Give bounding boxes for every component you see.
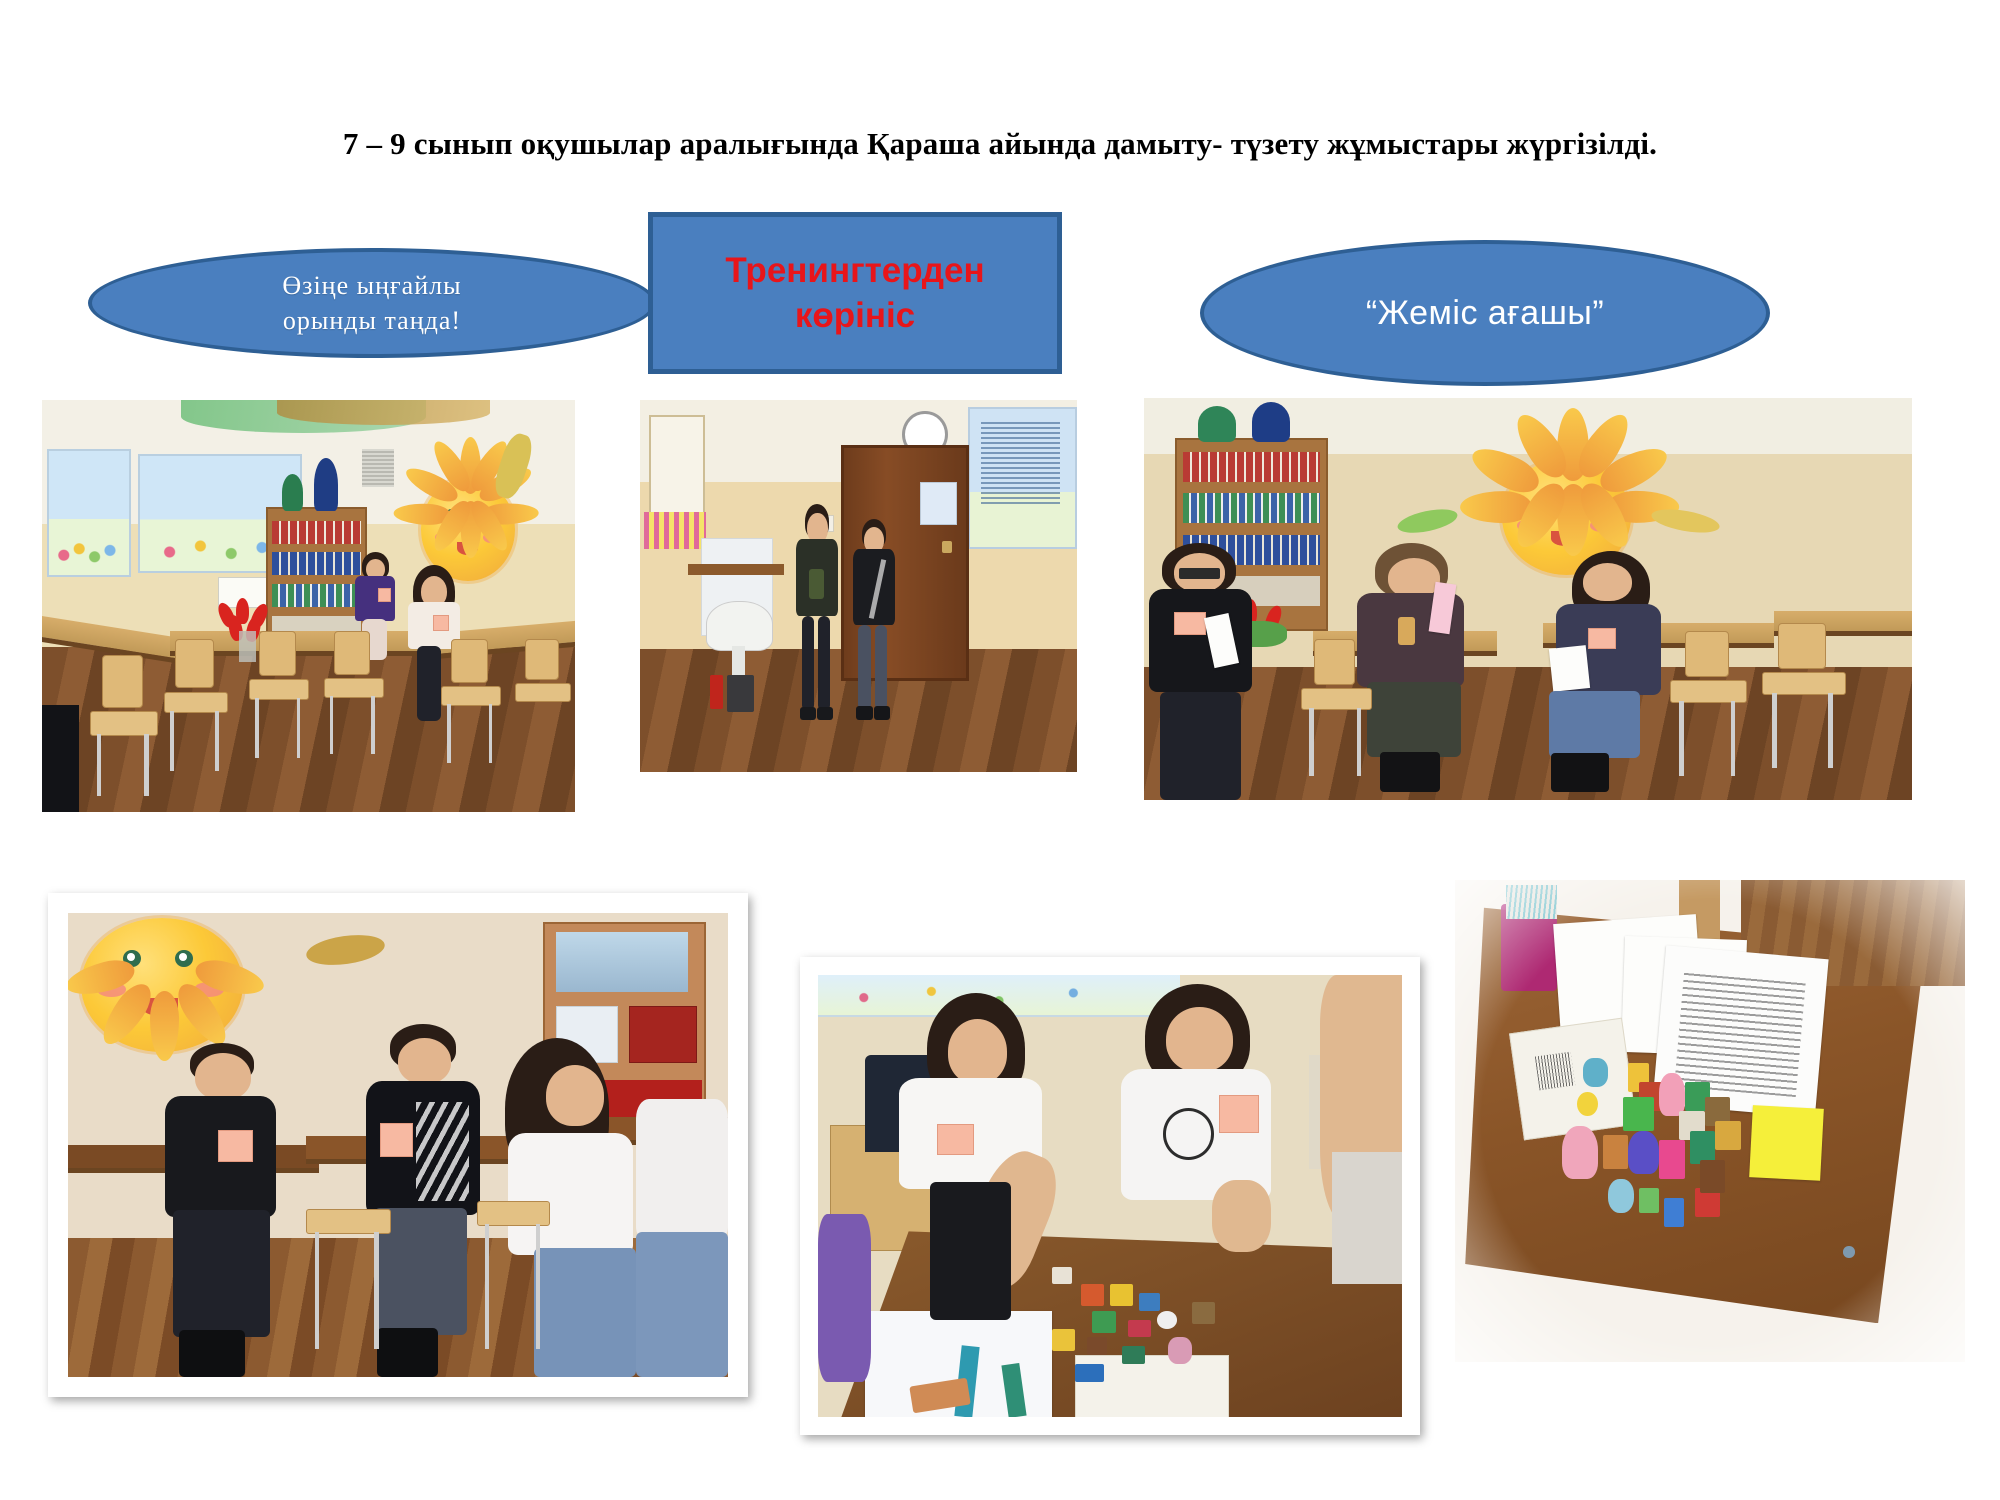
- callout-left-text: Өзіңе ыңғайлы орынды таңда!: [282, 268, 461, 338]
- student-figure: [850, 519, 898, 720]
- callout-right-text: “Жеміс ағашы”: [1366, 294, 1604, 333]
- sink: [706, 601, 774, 651]
- page-title: 7 – 9 сынып оқушылар аралығында Қараша а…: [0, 126, 2000, 162]
- photo-figurines-table[interactable]: [818, 975, 1402, 1417]
- slide-canvas: 7 – 9 сынып оқушылар аралығында Қараша а…: [0, 0, 2000, 1500]
- callout-center-line2: көрініс: [795, 296, 915, 335]
- callout-left-line1: Өзіңе ыңғайлы: [282, 271, 461, 300]
- callout-center-line1: Тренингтерден: [725, 251, 984, 290]
- callout-center-text: Тренингтерден көрініс: [725, 248, 984, 339]
- photo-girls-talking[interactable]: [1144, 398, 1912, 800]
- photo-two-boys-door[interactable]: [640, 400, 1077, 772]
- student-figure: [1110, 984, 1285, 1311]
- photo-figurines-table-frame: [800, 957, 1420, 1435]
- student-figure: [154, 1043, 293, 1377]
- student-figure: [1543, 551, 1674, 792]
- student-figure: [888, 993, 1063, 1320]
- callout-left-line2: орынды таңда!: [283, 306, 461, 335]
- photo-students-circle[interactable]: [68, 913, 728, 1377]
- photo-table-objects[interactable]: [1455, 880, 1965, 1362]
- callout-right-ellipse[interactable]: “Жеміс ағашы”: [1200, 240, 1770, 386]
- photo-classroom-chairs[interactable]: [42, 400, 575, 812]
- sticky-note: [1749, 1105, 1824, 1181]
- student-figure: [1144, 543, 1259, 800]
- callout-center-rectangle[interactable]: Тренингтерден көрініс: [648, 212, 1062, 374]
- callout-left-ellipse[interactable]: Өзіңе ыңғайлы орынды таңда!: [88, 248, 656, 358]
- photo-students-circle-frame: [48, 893, 748, 1397]
- student-figure: [793, 504, 841, 720]
